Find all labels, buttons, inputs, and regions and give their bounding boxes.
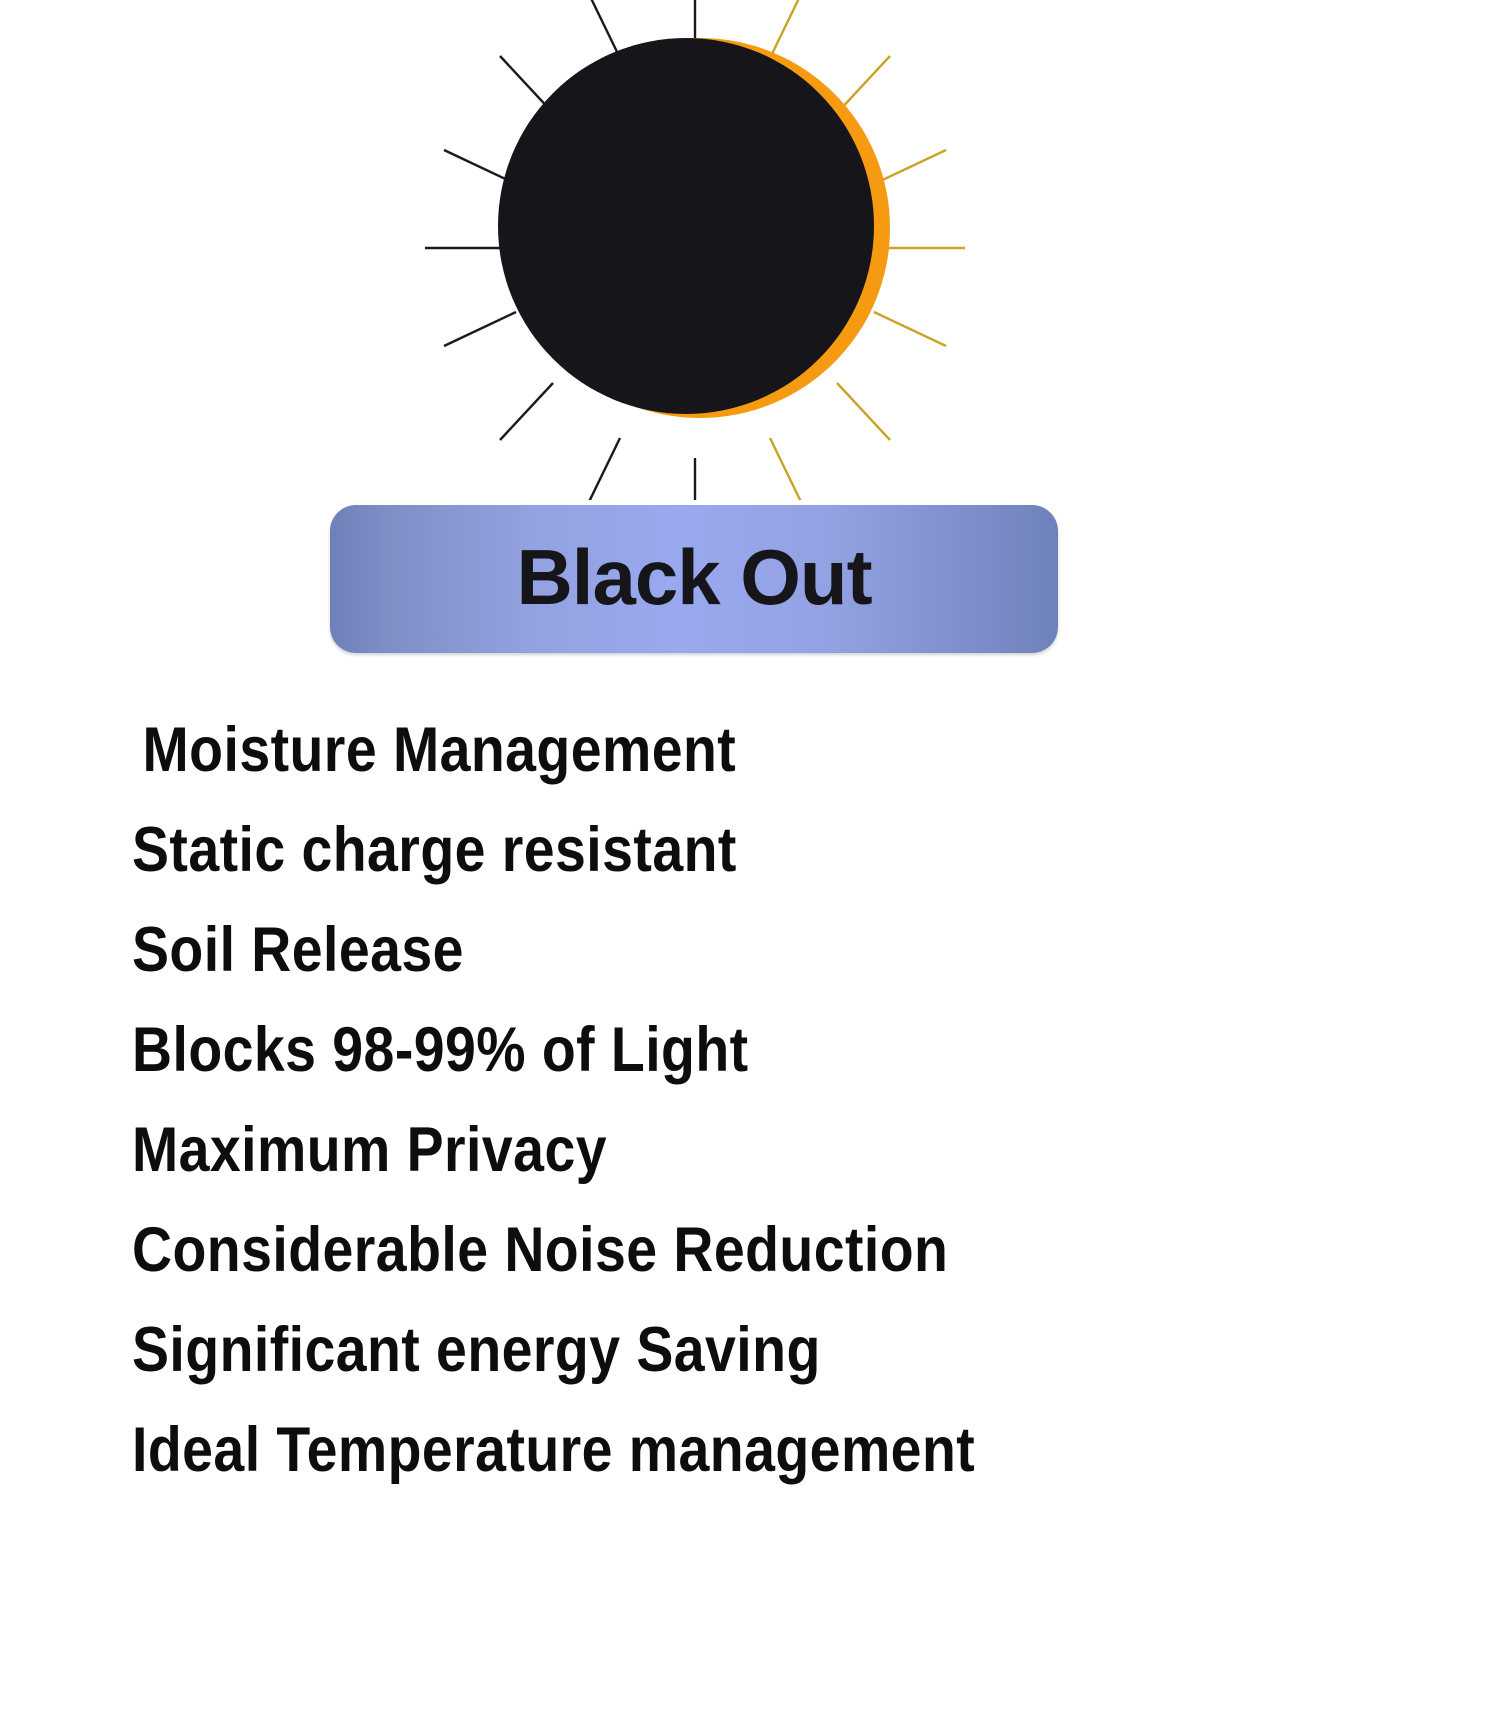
list-item: Soil Release [0,900,1317,1000]
list-item: Significant energy Saving [0,1300,1317,1400]
blackout-banner: Black Out [330,505,1058,653]
blackout-banner-label: Black Out [516,538,871,616]
feature-list: Moisture Management Static charge resist… [0,700,1497,1500]
list-item: Ideal Temperature management [0,1400,1317,1500]
eclipse-black-disc [498,38,874,414]
list-item: Blocks 98-99% of Light [0,1000,1317,1100]
list-item: Static charge resistant [0,800,1317,900]
list-item: Considerable Noise Reduction [0,1200,1317,1300]
list-item: Maximum Privacy [0,1100,1317,1200]
list-item: Moisture Management [0,700,1317,800]
eclipse-sun-graphic [0,0,1497,500]
